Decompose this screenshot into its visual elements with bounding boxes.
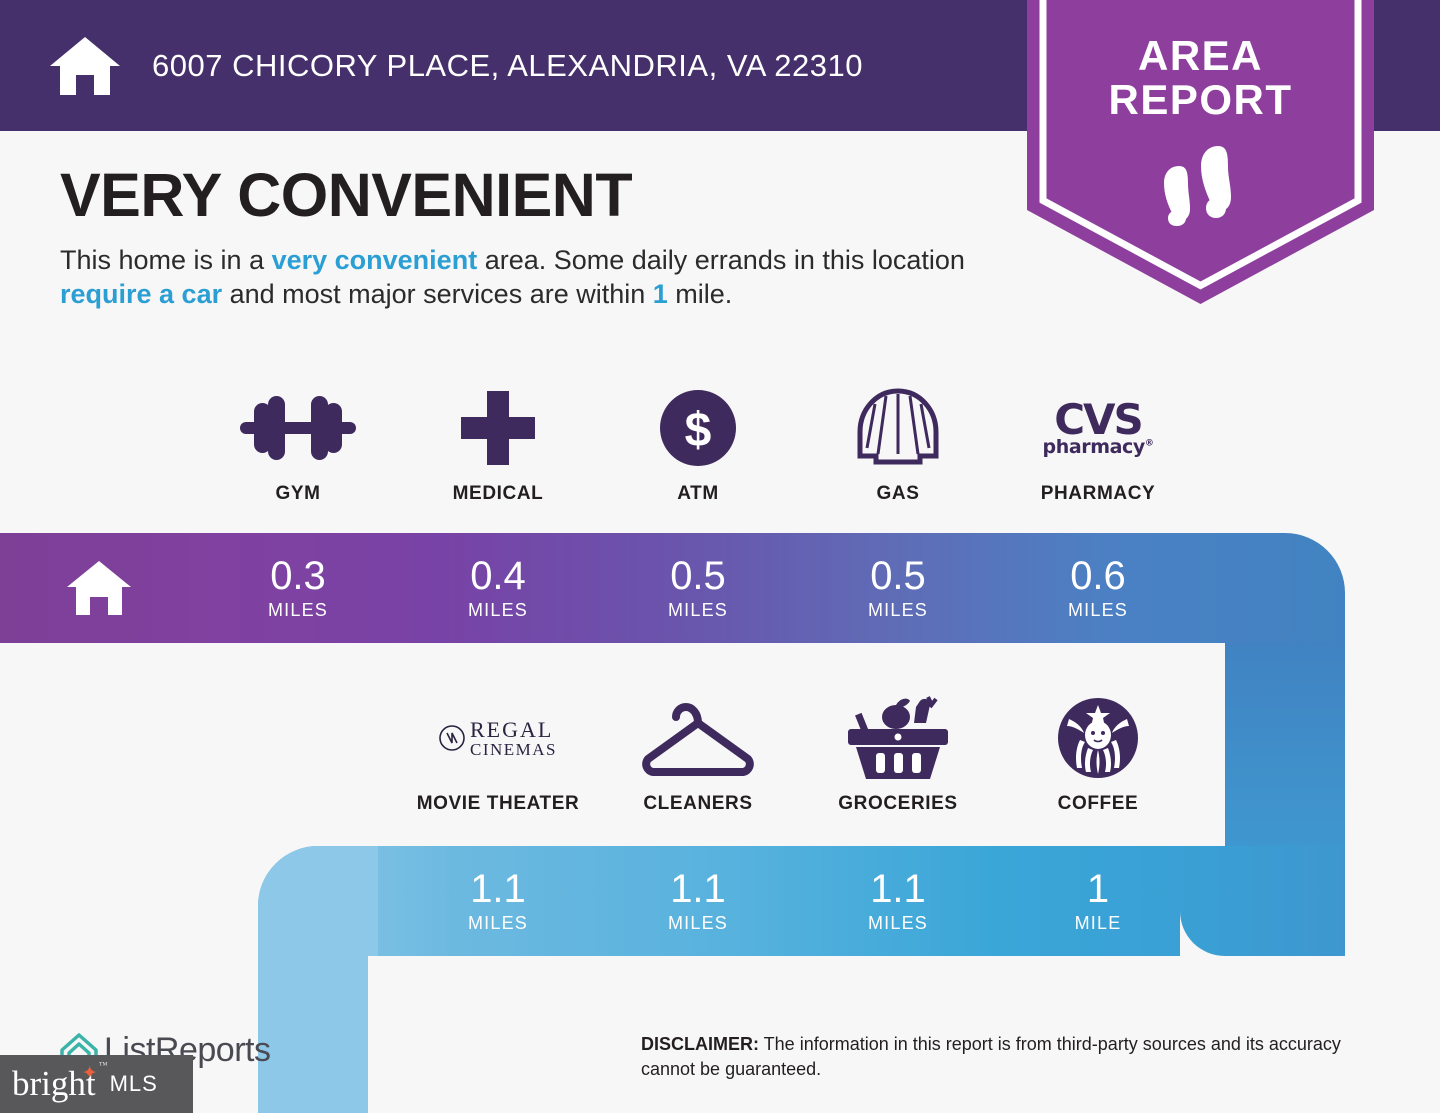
bright-wordmark: bright ✦ ™ <box>12 1064 96 1104</box>
distance-value: 0.5 <box>870 556 926 596</box>
distance-unit: MILES <box>868 600 928 621</box>
distance-unit: MILES <box>1068 600 1128 621</box>
poi-label: GYM <box>275 483 320 505</box>
cvs-pharmacy-logo-icon: CVS pharmacy® <box>1043 385 1154 471</box>
poi-label: ATM <box>677 483 719 505</box>
desc-text-4: mile. <box>668 279 733 309</box>
distance-value: 0.3 <box>270 556 326 596</box>
desc-highlight-1: very convenient <box>272 245 478 275</box>
poi-icon-row-bottom: REGAL CINEMAS MOVIE THEATER CLEANERS <box>398 695 1198 815</box>
mls-text: MLS <box>110 1071 158 1097</box>
hero-section: VERY CONVENIENT This home is in a very c… <box>60 163 1020 311</box>
distance-cell-movie-theater: 1.1 MILES <box>398 846 598 956</box>
poi-gym[interactable]: GYM <box>198 385 398 505</box>
distance-unit: MILES <box>268 600 328 621</box>
distance-cell-gas: 0.5 MILES <box>798 533 998 643</box>
distance-unit: MILES <box>868 913 928 934</box>
distance-cell-gym: 0.3 MILES <box>198 533 398 643</box>
poi-label: MEDICAL <box>453 483 544 505</box>
distance-unit: MILES <box>668 913 728 934</box>
area-report-badge: AREA REPORT <box>1027 0 1374 304</box>
trademark-symbol: ™ <box>99 1060 108 1070</box>
regal-cinemas-logo-icon: REGAL CINEMAS <box>439 695 557 781</box>
home-icon <box>63 559 135 617</box>
distance-row-top: 0.3 MILES 0.4 MILES 0.5 MILES 0.5 MILES … <box>0 533 1200 643</box>
distance-unit: MILES <box>468 913 528 934</box>
distance-row-bottom: 1.1 MILES 1.1 MILES 1.1 MILES 1 MILE <box>398 846 1200 956</box>
distance-cell-cleaners: 1.1 MILES <box>598 846 798 956</box>
hero-description: This home is in a very convenient area. … <box>60 243 1020 311</box>
poi-medical[interactable]: MEDICAL <box>398 385 598 505</box>
disclaimer: DISCLAIMER: The information in this repo… <box>641 1032 1381 1082</box>
grocery-basket-icon <box>844 695 952 781</box>
home-origin-cell <box>0 533 198 643</box>
poi-gas[interactable]: GAS <box>798 385 998 505</box>
home-icon <box>46 35 124 97</box>
distance-value: 1.1 <box>670 869 726 909</box>
dumbbell-icon <box>238 385 358 471</box>
poi-label: GROCERIES <box>838 793 957 815</box>
distance-unit: MILES <box>668 600 728 621</box>
bright-mls-watermark: bright ✦ ™ MLS <box>0 1055 193 1113</box>
poi-coffee[interactable]: COFFEE <box>998 695 1198 815</box>
disclaimer-label: DISCLAIMER: <box>641 1034 759 1054</box>
property-address: 6007 CHICORY PLACE, ALEXANDRIA, VA 22310 <box>152 48 863 84</box>
poi-movie-theater[interactable]: REGAL CINEMAS MOVIE THEATER <box>398 695 598 815</box>
distance-cell-groceries: 1.1 MILES <box>798 846 998 956</box>
poi-icon-row-top: GYM MEDICAL $ ATM <box>198 385 1198 505</box>
page-title: VERY CONVENIENT <box>60 163 1020 227</box>
poi-label: PHARMACY <box>1041 483 1156 505</box>
desc-text-2: area. Some daily errands in this locatio… <box>477 245 965 275</box>
distance-value: 1.1 <box>870 869 926 909</box>
distance-cell-pharmacy: 0.6 MILES <box>998 533 1198 643</box>
desc-highlight-2: require a car <box>60 279 222 309</box>
distance-cell-atm: 0.5 MILES <box>598 533 798 643</box>
desc-text-3: and most major services are within <box>222 279 653 309</box>
distance-value: 1 <box>1087 869 1109 909</box>
poi-pharmacy[interactable]: CVS pharmacy® PHARMACY <box>998 385 1198 505</box>
poi-label: COFFEE <box>1058 793 1139 815</box>
shell-logo-icon <box>856 385 940 471</box>
poi-label: MOVIE THEATER <box>417 793 580 815</box>
desc-text-1: This home is in a <box>60 245 272 275</box>
svg-text:$: $ <box>685 404 712 457</box>
distance-value: 0.4 <box>470 556 526 596</box>
distance-value: 1.1 <box>470 869 526 909</box>
poi-label: CLEANERS <box>643 793 752 815</box>
desc-highlight-3: 1 <box>653 279 668 309</box>
distance-value: 0.5 <box>670 556 726 596</box>
distance-unit: MILE <box>1075 913 1122 934</box>
distance-cell-coffee: 1 MILE <box>998 846 1198 956</box>
poi-groceries[interactable]: GROCERIES <box>798 695 998 815</box>
star-icon: ✦ <box>82 1062 98 1085</box>
distance-value: 0.6 <box>1070 556 1126 596</box>
poi-cleaners[interactable]: CLEANERS <box>598 695 798 815</box>
distance-unit: MILES <box>468 600 528 621</box>
poi-label: GAS <box>877 483 920 505</box>
starbucks-logo-icon <box>1056 695 1140 781</box>
distance-cell-medical: 0.4 MILES <box>398 533 598 643</box>
poi-atm[interactable]: $ ATM <box>598 385 798 505</box>
clothes-hanger-icon <box>638 695 758 781</box>
dollar-circle-icon: $ <box>658 385 738 471</box>
medical-cross-icon <box>459 385 537 471</box>
